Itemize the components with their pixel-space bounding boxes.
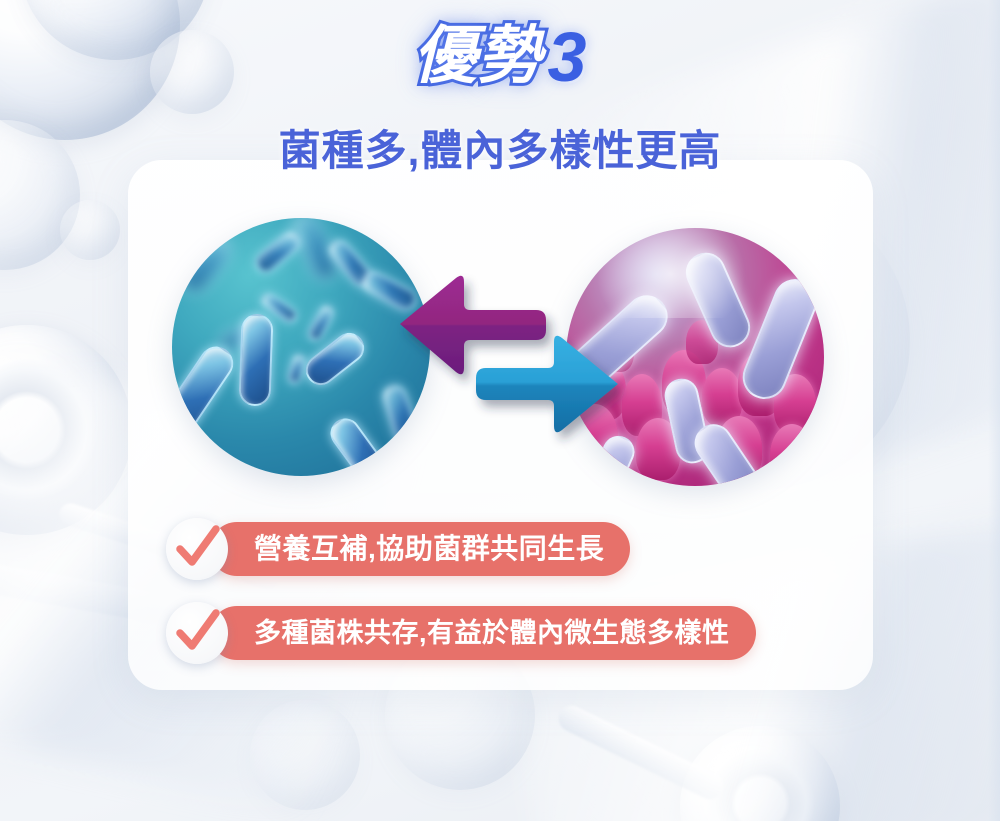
bacterium-shape xyxy=(325,412,394,476)
bacterium-shape xyxy=(172,340,240,450)
bubble-torus-decor xyxy=(0,350,109,510)
exchange-arrows xyxy=(390,262,640,462)
page-subtitle: 菌種多,體內多樣性更高 xyxy=(0,117,1000,178)
bubble-stem-decor xyxy=(554,701,727,803)
bacterium-shape xyxy=(306,303,336,343)
benefit-text: 多種菌株共存,有益於體內微生態多樣性 xyxy=(254,620,730,647)
bubble-decor xyxy=(60,200,120,260)
benefit-text: 營養互補,協助菌群共同生長 xyxy=(254,535,604,563)
arrow-right-icon xyxy=(476,336,618,433)
bacterium-shape xyxy=(252,228,305,277)
bacterium-shape xyxy=(286,353,306,385)
villus-shape xyxy=(770,424,814,486)
arrow-left-icon xyxy=(400,276,546,375)
benefit-row[interactable]: 營養互補,協助菌群共同生長 xyxy=(166,518,630,580)
page-title: 優勢 xyxy=(414,25,542,88)
check-icon xyxy=(166,518,228,580)
bubble-decor xyxy=(680,726,840,821)
check-icon xyxy=(166,602,228,664)
bubble-decor xyxy=(250,700,360,810)
benefit-pill: 多種菌株共存,有益於體內微生態多樣性 xyxy=(210,606,756,660)
bacterium-shape xyxy=(238,313,273,406)
title-block: 優勢3 xyxy=(0,22,1000,92)
bubble-decor xyxy=(0,325,132,535)
benefit-row[interactable]: 多種菌株共存,有益於體內微生態多樣性 xyxy=(166,602,756,664)
poster-stage: 優勢3 菌種多,體內多樣性更高 xyxy=(0,0,1000,821)
page-title-number: 3 xyxy=(548,22,587,92)
benefit-pill: 營養互補,協助菌群共同生長 xyxy=(210,522,630,576)
bubble-torus-decor xyxy=(698,742,823,821)
